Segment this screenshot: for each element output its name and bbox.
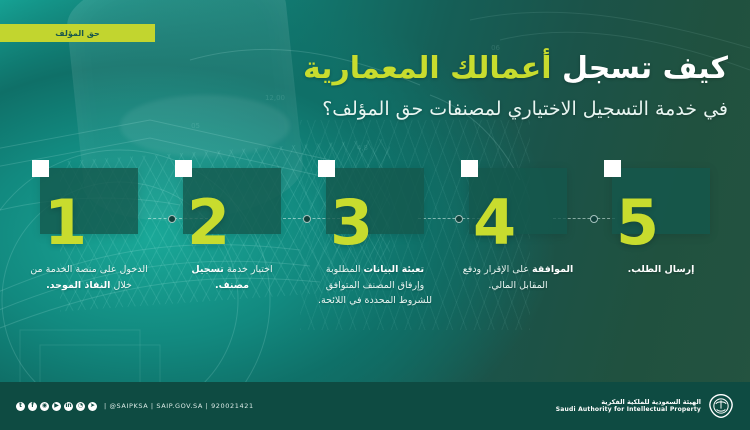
step-text-3: تعبئة البيانات المطلوبة وإرفاق المصنف ال… [316, 262, 434, 309]
step-item-2[interactable]: 2 اختيار خدمة تسجيل مصنف. [171, 168, 293, 363]
step-text-1-bold: النفاذ الموحد. [46, 280, 110, 291]
step-item-4[interactable]: 4 الموافقة على الإقرار ودفع المقابل الما… [457, 168, 579, 363]
step-number-3: 3 [330, 192, 373, 254]
title-part-white: كيف تسجل [562, 51, 728, 86]
telegram-icon[interactable]: ➤ [88, 402, 97, 411]
step-text-5-bold: إرسال الطلب. [628, 264, 695, 275]
facebook-icon[interactable]: f [28, 402, 37, 411]
svg-text:4,8: 4,8 [357, 144, 368, 152]
page-title: كيف تسجل أعمالك المعمارية [108, 50, 728, 88]
footer-left: t f ◉ ▶ in ◔ ➤ | @SAIPKSA | SAIP.GOV.SA … [16, 402, 254, 411]
step-item-1[interactable]: 1 الدخول على منصة الخدمة من خلال النفاذ … [28, 168, 150, 363]
step-text-2: اختيار خدمة تسجيل مصنف. [173, 262, 291, 293]
social-icons-group[interactable]: t f ◉ ▶ in ◔ ➤ [16, 402, 97, 411]
corner-marker-icon [318, 160, 335, 177]
svg-text:05: 05 [191, 122, 200, 130]
step-text-4-bold: الموافقة [532, 264, 573, 275]
corner-marker-icon [461, 160, 478, 177]
step-number-2: 2 [187, 192, 230, 254]
category-badge-label: حق المؤلف [55, 29, 99, 38]
snapchat-icon[interactable]: ◔ [76, 402, 85, 411]
logo-name-arabic: الهيئة السعودية للملكية الفكرية [556, 398, 701, 407]
step-text-1: الدخول على منصة الخدمة من خلال النفاذ ال… [30, 262, 148, 293]
step-card-5: 5 [612, 168, 710, 234]
infographic-poster: 12,00 05 06 4,8 حق المؤلف كيف تسجل أعمال… [0, 0, 750, 430]
step-text-3-bold: تعبئة البيانات [364, 264, 425, 275]
step-item-3[interactable]: 3 تعبئة البيانات المطلوبة وإرفاق المصنف … [314, 168, 436, 363]
corner-marker-icon [175, 160, 192, 177]
corner-marker-icon [32, 160, 49, 177]
linkedin-icon[interactable]: in [64, 402, 73, 411]
instagram-icon[interactable]: ◉ [40, 402, 49, 411]
corner-marker-icon [604, 160, 621, 177]
footer-bar: t f ◉ ▶ in ◔ ➤ | @SAIPKSA | SAIP.GOV.SA … [0, 382, 750, 430]
step-text-4: الموافقة على الإقرار ودفع المقابل المالي… [459, 262, 577, 293]
step-number-5: 5 [616, 192, 659, 254]
saip-shield-emblem-icon [708, 393, 734, 419]
category-badge: حق المؤلف [0, 24, 155, 42]
twitter-icon[interactable]: t [16, 402, 25, 411]
headline-block: كيف تسجل أعمالك المعمارية في خدمة التسجي… [108, 50, 728, 121]
title-part-accent: أعمالك المعمارية [303, 51, 552, 86]
step-text-5: إرسال الطلب. [602, 262, 720, 278]
steps-row: 5 إرسال الطلب. 4 الموافقة على الإقرار ود… [0, 168, 750, 363]
step-number-4: 4 [473, 192, 516, 254]
step-item-5[interactable]: 5 إرسال الطلب. [600, 168, 722, 363]
step-card-1: 1 [40, 168, 138, 234]
page-subtitle: في خدمة التسجيل الاختياري لمصنفات حق الم… [108, 97, 728, 122]
logo-name-english: Saudi Authority for Intellectual Propert… [556, 406, 701, 414]
youtube-icon[interactable]: ▶ [52, 402, 61, 411]
step-card-4: 4 [469, 168, 567, 234]
step-number-1: 1 [44, 192, 87, 254]
footer-handles: | @SAIPKSA | SAIP.GOV.SA | 920021421 [104, 402, 254, 410]
step-text-2-plain: اختيار خدمة [227, 264, 273, 275]
logo-text: الهيئة السعودية للملكية الفكرية Saudi Au… [556, 398, 701, 415]
organization-logo: الهيئة السعودية للملكية الفكرية Saudi Au… [556, 393, 734, 419]
step-card-3: 3 [326, 168, 424, 234]
step-card-2: 2 [183, 168, 281, 234]
